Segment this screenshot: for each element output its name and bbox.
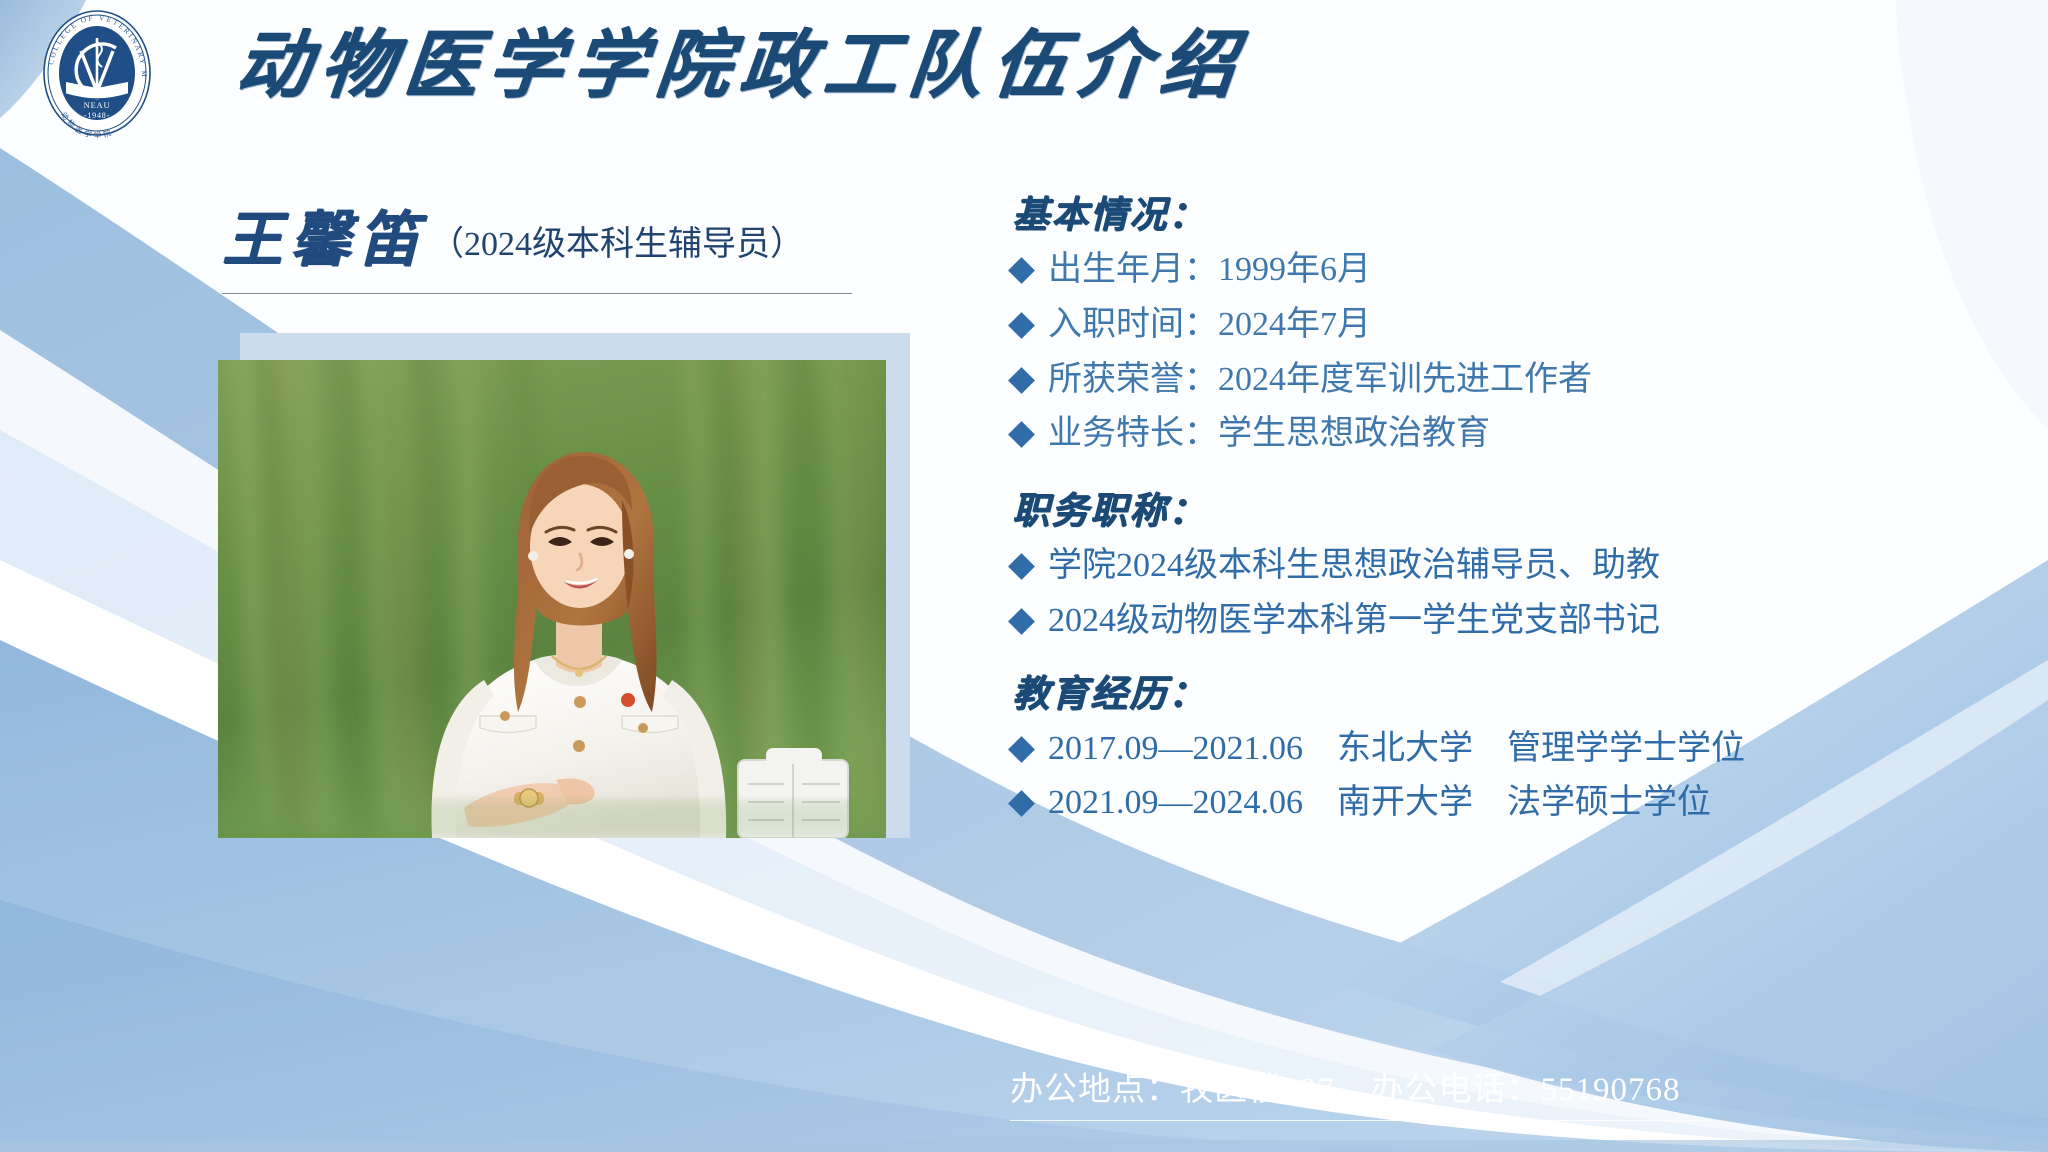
list-item-text: 学院2024级本科生思想政治辅导员、助教 — [1048, 543, 1660, 590]
diamond-bullet-icon — [1008, 367, 1035, 394]
section-education: 教育经历： 2017.09—2021.06 东北大学 管理学学士学位 2021.… — [1012, 675, 2012, 828]
list-item-text: 2021.09—2024.06 南开大学 法学硕士学位 — [1048, 780, 1711, 827]
person-name: 王馨笛 — [222, 210, 426, 270]
list-item: 2024级动物医学本科第一学生党支部书记 — [1012, 598, 2012, 645]
profile-name-row: 王馨笛 （2024级本科生辅导员） — [222, 210, 804, 270]
section-basic-info: 基本情况： 出生年月：1999年6月 入职时间：2024年7月 所获荣誉：202… — [1012, 196, 2012, 458]
office-phone: 办公电话：55190768 — [1371, 1062, 1681, 1110]
college-logo: NEAU -1948- COLLEGE OF VETERINARY MEDICI… — [36, 8, 158, 138]
list-item-text: 2017.09—2021.06 东北大学 管理学学士学位 — [1048, 726, 1745, 773]
list-item: 出生年月：1999年6月 — [1012, 247, 2012, 294]
slide-footer: 办公地点：牧医楼207 办公电话：55190768 — [1010, 1062, 1970, 1121]
list-item: 学院2024级本科生思想政治辅导员、助教 — [1012, 543, 2012, 590]
list-item: 入职时间：2024年7月 — [1012, 302, 2012, 349]
section-heading: 职务职称： — [1012, 492, 2012, 533]
office-location: 办公地点：牧医楼207 — [1010, 1062, 1335, 1110]
section-heading: 基本情况： — [1012, 196, 2012, 237]
list-item-text: 2024级动物医学本科第一学生党支部书记 — [1048, 598, 1660, 645]
slide-canvas: NEAU -1948- COLLEGE OF VETERINARY MEDICI… — [0, 0, 2048, 1152]
diamond-bullet-icon — [1008, 312, 1035, 339]
college-logo-icon: NEAU -1948- COLLEGE OF VETERINARY MEDICI… — [36, 8, 158, 138]
profile-photo — [218, 360, 886, 838]
diamond-bullet-icon — [1008, 553, 1035, 580]
section-position-title: 职务职称： 学院2024级本科生思想政治辅导员、助教 2024级动物医学本科第一… — [1012, 492, 2012, 645]
diamond-bullet-icon — [1008, 608, 1035, 635]
name-divider — [222, 293, 852, 294]
list-item: 2017.09—2021.06 东北大学 管理学学士学位 — [1012, 726, 2012, 773]
person-role: （2024级本科生辅导员） — [430, 216, 804, 270]
section-heading: 教育经历： — [1012, 675, 2012, 716]
diamond-bullet-icon — [1008, 736, 1035, 763]
list-item-text: 所获荣誉：2024年度军训先进工作者 — [1048, 357, 1592, 404]
logo-year: -1948- — [84, 111, 110, 120]
profile-details-column: 基本情况： 出生年月：1999年6月 入职时间：2024年7月 所获荣誉：202… — [1012, 196, 2012, 861]
list-item-text: 出生年月：1999年6月 — [1048, 247, 1371, 294]
diamond-bullet-icon — [1008, 257, 1035, 284]
list-item-text: 入职时间：2024年7月 — [1048, 302, 1371, 349]
profile-left-column: 王馨笛 （2024级本科生辅导员） — [0, 190, 950, 910]
slide-header: NEAU -1948- COLLEGE OF VETERINARY MEDICI… — [0, 0, 2048, 175]
list-item: 业务特长：学生思想政治教育 — [1012, 411, 2012, 458]
diamond-bullet-icon — [1008, 421, 1035, 448]
list-item-text: 业务特长：学生思想政治教育 — [1048, 411, 1490, 458]
page-title: 动物医学学院政工队伍介绍 — [232, 28, 1248, 106]
diamond-bullet-icon — [1008, 790, 1035, 817]
logo-abbr: NEAU — [84, 100, 111, 110]
footer-divider — [1010, 1120, 1710, 1121]
list-item: 所获荣誉：2024年度军训先进工作者 — [1012, 357, 2012, 404]
list-item: 2021.09—2024.06 南开大学 法学硕士学位 — [1012, 780, 2012, 827]
